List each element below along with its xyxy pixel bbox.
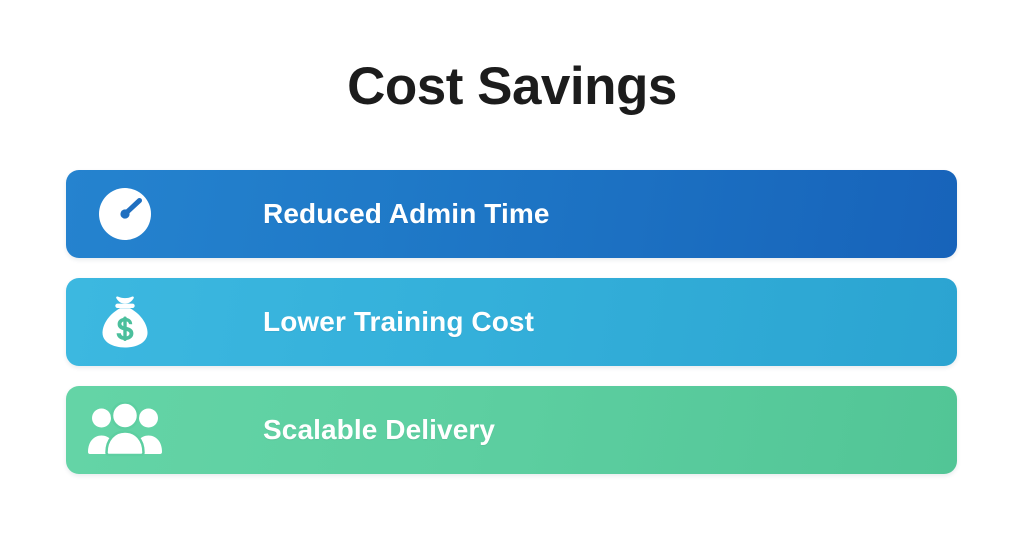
benefit-bar-lower-training-cost[interactable]: Lower Training Cost [66,278,957,366]
benefit-bar-label: Lower Training Cost [263,308,957,336]
benefit-bar-label: Reduced Admin Time [263,200,957,228]
group-people-icon [66,386,184,474]
benefit-bar-list: Reduced Admin Time Lo [66,170,957,474]
benefit-bar-reduced-admin-time[interactable]: Reduced Admin Time [66,170,957,258]
gauge-icon [66,170,184,258]
benefit-bar-scalable-delivery[interactable]: Scalable Delivery [66,386,957,474]
slide-canvas: Cost Savings Reduced Admin Time [0,0,1024,553]
money-bag-icon [66,278,184,366]
benefit-bar-label: Scalable Delivery [263,416,957,444]
page-title: Cost Savings [0,57,1024,118]
